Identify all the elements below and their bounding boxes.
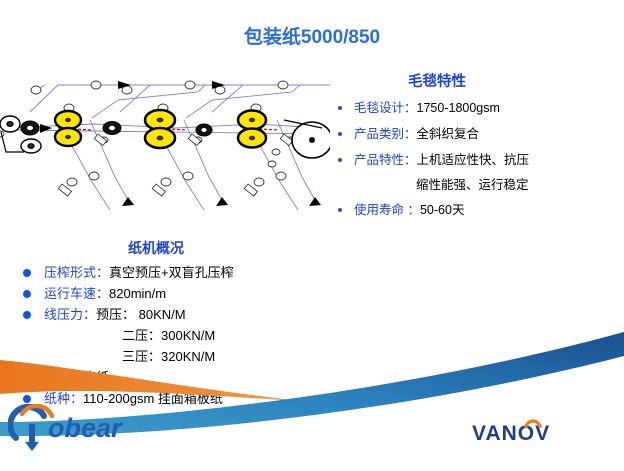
felt-item-continuation: 缩性能强、运行稳定 [330,174,624,193]
machine-item-label: 压榨形式： [44,265,109,280]
orange-swoosh-icon [0,360,312,402]
bullet-dot-icon [338,208,342,212]
bullet-dot-icon [23,269,31,277]
list-item: 运行车速：820min/m [18,285,348,303]
felt-item-value: 50-60天 [420,203,464,217]
felt-item-value: 全斜织复合 [417,127,480,141]
list-item: 产品特性：上机适应性快、抗压 [330,152,624,169]
bullet-dot-icon [338,158,342,162]
machine-item-value: 真空预压+双盲孔压榨 [109,265,234,280]
felt-spec-heading: 毛毯特性 [408,70,624,91]
list-item: 线压力：预压： 80KN/M [18,306,348,324]
press-section-diagram [0,72,330,237]
felt-item-label: 毛毯设计： [354,101,417,115]
felt-spec-list: 毛毯设计：1750-1800gsm 产品类别：全斜织复合 产品特性：上机适应性快… [330,100,624,219]
vanov-logo: VANOV [470,418,580,448]
page-title: 包装纸5000/850 [0,22,624,49]
machine-item-label: 线压力： [44,307,96,322]
bullet-dot-icon [338,132,342,136]
list-item: 使用寿命 ：50-60天 [330,202,624,219]
felt-spec-panel: 毛毯特性 毛毯设计：1750-1800gsm 产品类别：全斜织复合 产品特性：上… [330,70,624,228]
list-item: 压榨形式：真空预压+双盲孔压榨 [18,264,348,282]
felt-item-value: 上机适应性快、抗压 [417,153,530,167]
machine-overview-heading: 纸机概况 [128,238,348,258]
machine-item-label: 运行车速： [44,286,109,301]
felt-item-label: 产品类别： [354,127,417,141]
machine-item-value: 820min/m [109,286,166,301]
bullet-dot-icon [23,311,31,319]
felt-item-value: 1750-1800gsm [417,101,500,115]
gobear-logo: obear [8,404,138,452]
bullet-dot-icon [338,106,342,110]
machine-item-value: 预压： 80KN/M [96,307,186,322]
felt-loops-icon [8,85,330,210]
slide-canvas: 包装纸5000/850 [0,0,624,471]
gobear-g-icon [10,407,44,438]
felt-item-label: 使用寿命 ： [354,203,420,217]
press-roll-icon [55,110,266,148]
list-item: 毛毯设计：1750-1800gsm [330,100,624,117]
felt-item-label: 产品特性： [354,153,417,167]
bullet-dot-icon [23,290,31,298]
gobear-wordmark: obear [48,413,123,443]
list-item: 产品类别：全斜织复合 [330,126,624,143]
flow-arrow-icon [40,81,321,206]
